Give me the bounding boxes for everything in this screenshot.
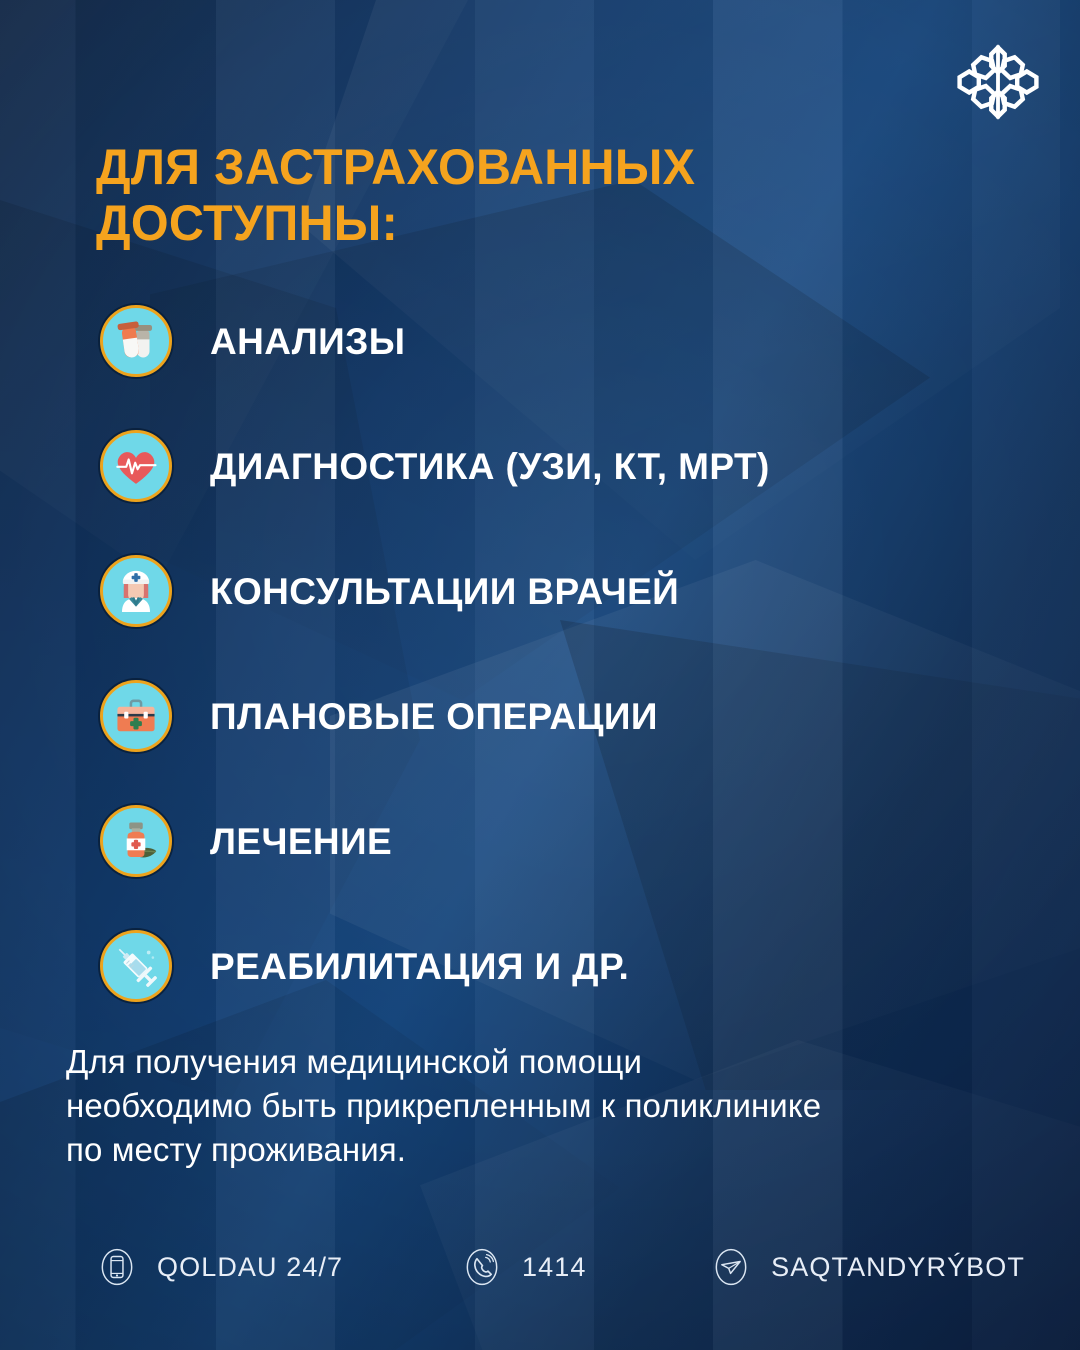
first-aid-kit-icon — [100, 680, 172, 752]
list-item: РЕАБИЛИТАЦИЯ И ДР. — [100, 930, 1000, 1002]
contact-label: QOLDAU 24/7 — [157, 1252, 343, 1283]
contact-qoldau[interactable]: QOLDAU 24/7 — [95, 1245, 343, 1289]
footer-contacts: QOLDAU 24/7 1414 — [95, 1245, 1025, 1289]
list-item-label: ДИАГНОСТИКА (УЗИ, КТ, МРТ) — [210, 448, 770, 485]
services-list: АНАЛИЗЫ ДИАГНОСТИКА (УЗИ, КТ, МРТ) — [100, 305, 1000, 1055]
contact-telegram-bot[interactable]: SAQTANDYRÝBOT — [709, 1245, 1025, 1289]
list-item-label: РЕАБИЛИТАЦИЯ И ДР. — [210, 948, 629, 985]
heart-pulse-icon — [100, 430, 172, 502]
list-item: ПЛАНОВЫЕ ОПЕРАЦИИ — [100, 680, 1000, 752]
list-item-label: ПЛАНОВЫЕ ОПЕРАЦИИ — [210, 698, 658, 735]
ringing-phone-icon — [460, 1245, 504, 1289]
smartphone-icon — [95, 1245, 139, 1289]
test-tubes-icon — [100, 305, 172, 377]
list-item: КОНСУЛЬТАЦИИ ВРАЧЕЙ — [100, 555, 1000, 627]
page-title-line-1: ДЛЯ ЗАСТРАХОВАННЫХ — [96, 140, 930, 196]
page-title: ДЛЯ ЗАСТРАХОВАННЫХ ДОСТУПНЫ: — [96, 140, 930, 251]
nurse-icon — [100, 555, 172, 627]
contact-label: 1414 — [522, 1252, 586, 1283]
telegram-plane-icon — [709, 1245, 753, 1289]
poster-canvas: ДЛЯ ЗАСТРАХОВАННЫХ ДОСТУПНЫ: — [0, 0, 1080, 1350]
page-title-line-2: ДОСТУПНЫ: — [96, 196, 930, 252]
list-item: ДИАГНОСТИКА (УЗИ, КТ, МРТ) — [100, 430, 1000, 502]
syringe-icon — [100, 930, 172, 1002]
attachment-note: Для получения медицинской помощи необход… — [66, 1040, 1056, 1172]
attachment-note-line-1: Для получения медицинской помощи — [66, 1043, 642, 1080]
attachment-note-line-3: по месту проживания. — [66, 1131, 406, 1168]
medicine-bottle-icon — [100, 805, 172, 877]
attachment-note-line-2: необходимо быть прикрепленным к поликлин… — [66, 1087, 821, 1124]
snowflake-ornament-logo-icon — [950, 34, 1046, 130]
contact-label: SAQTANDYRÝBOT — [771, 1252, 1025, 1283]
contact-hotline[interactable]: 1414 — [460, 1245, 586, 1289]
list-item-label: КОНСУЛЬТАЦИИ ВРАЧЕЙ — [210, 573, 679, 610]
list-item: ЛЕЧЕНИЕ — [100, 805, 1000, 877]
list-item-label: ЛЕЧЕНИЕ — [210, 823, 392, 860]
list-item-label: АНАЛИЗЫ — [210, 323, 405, 360]
list-item: АНАЛИЗЫ — [100, 305, 1000, 377]
